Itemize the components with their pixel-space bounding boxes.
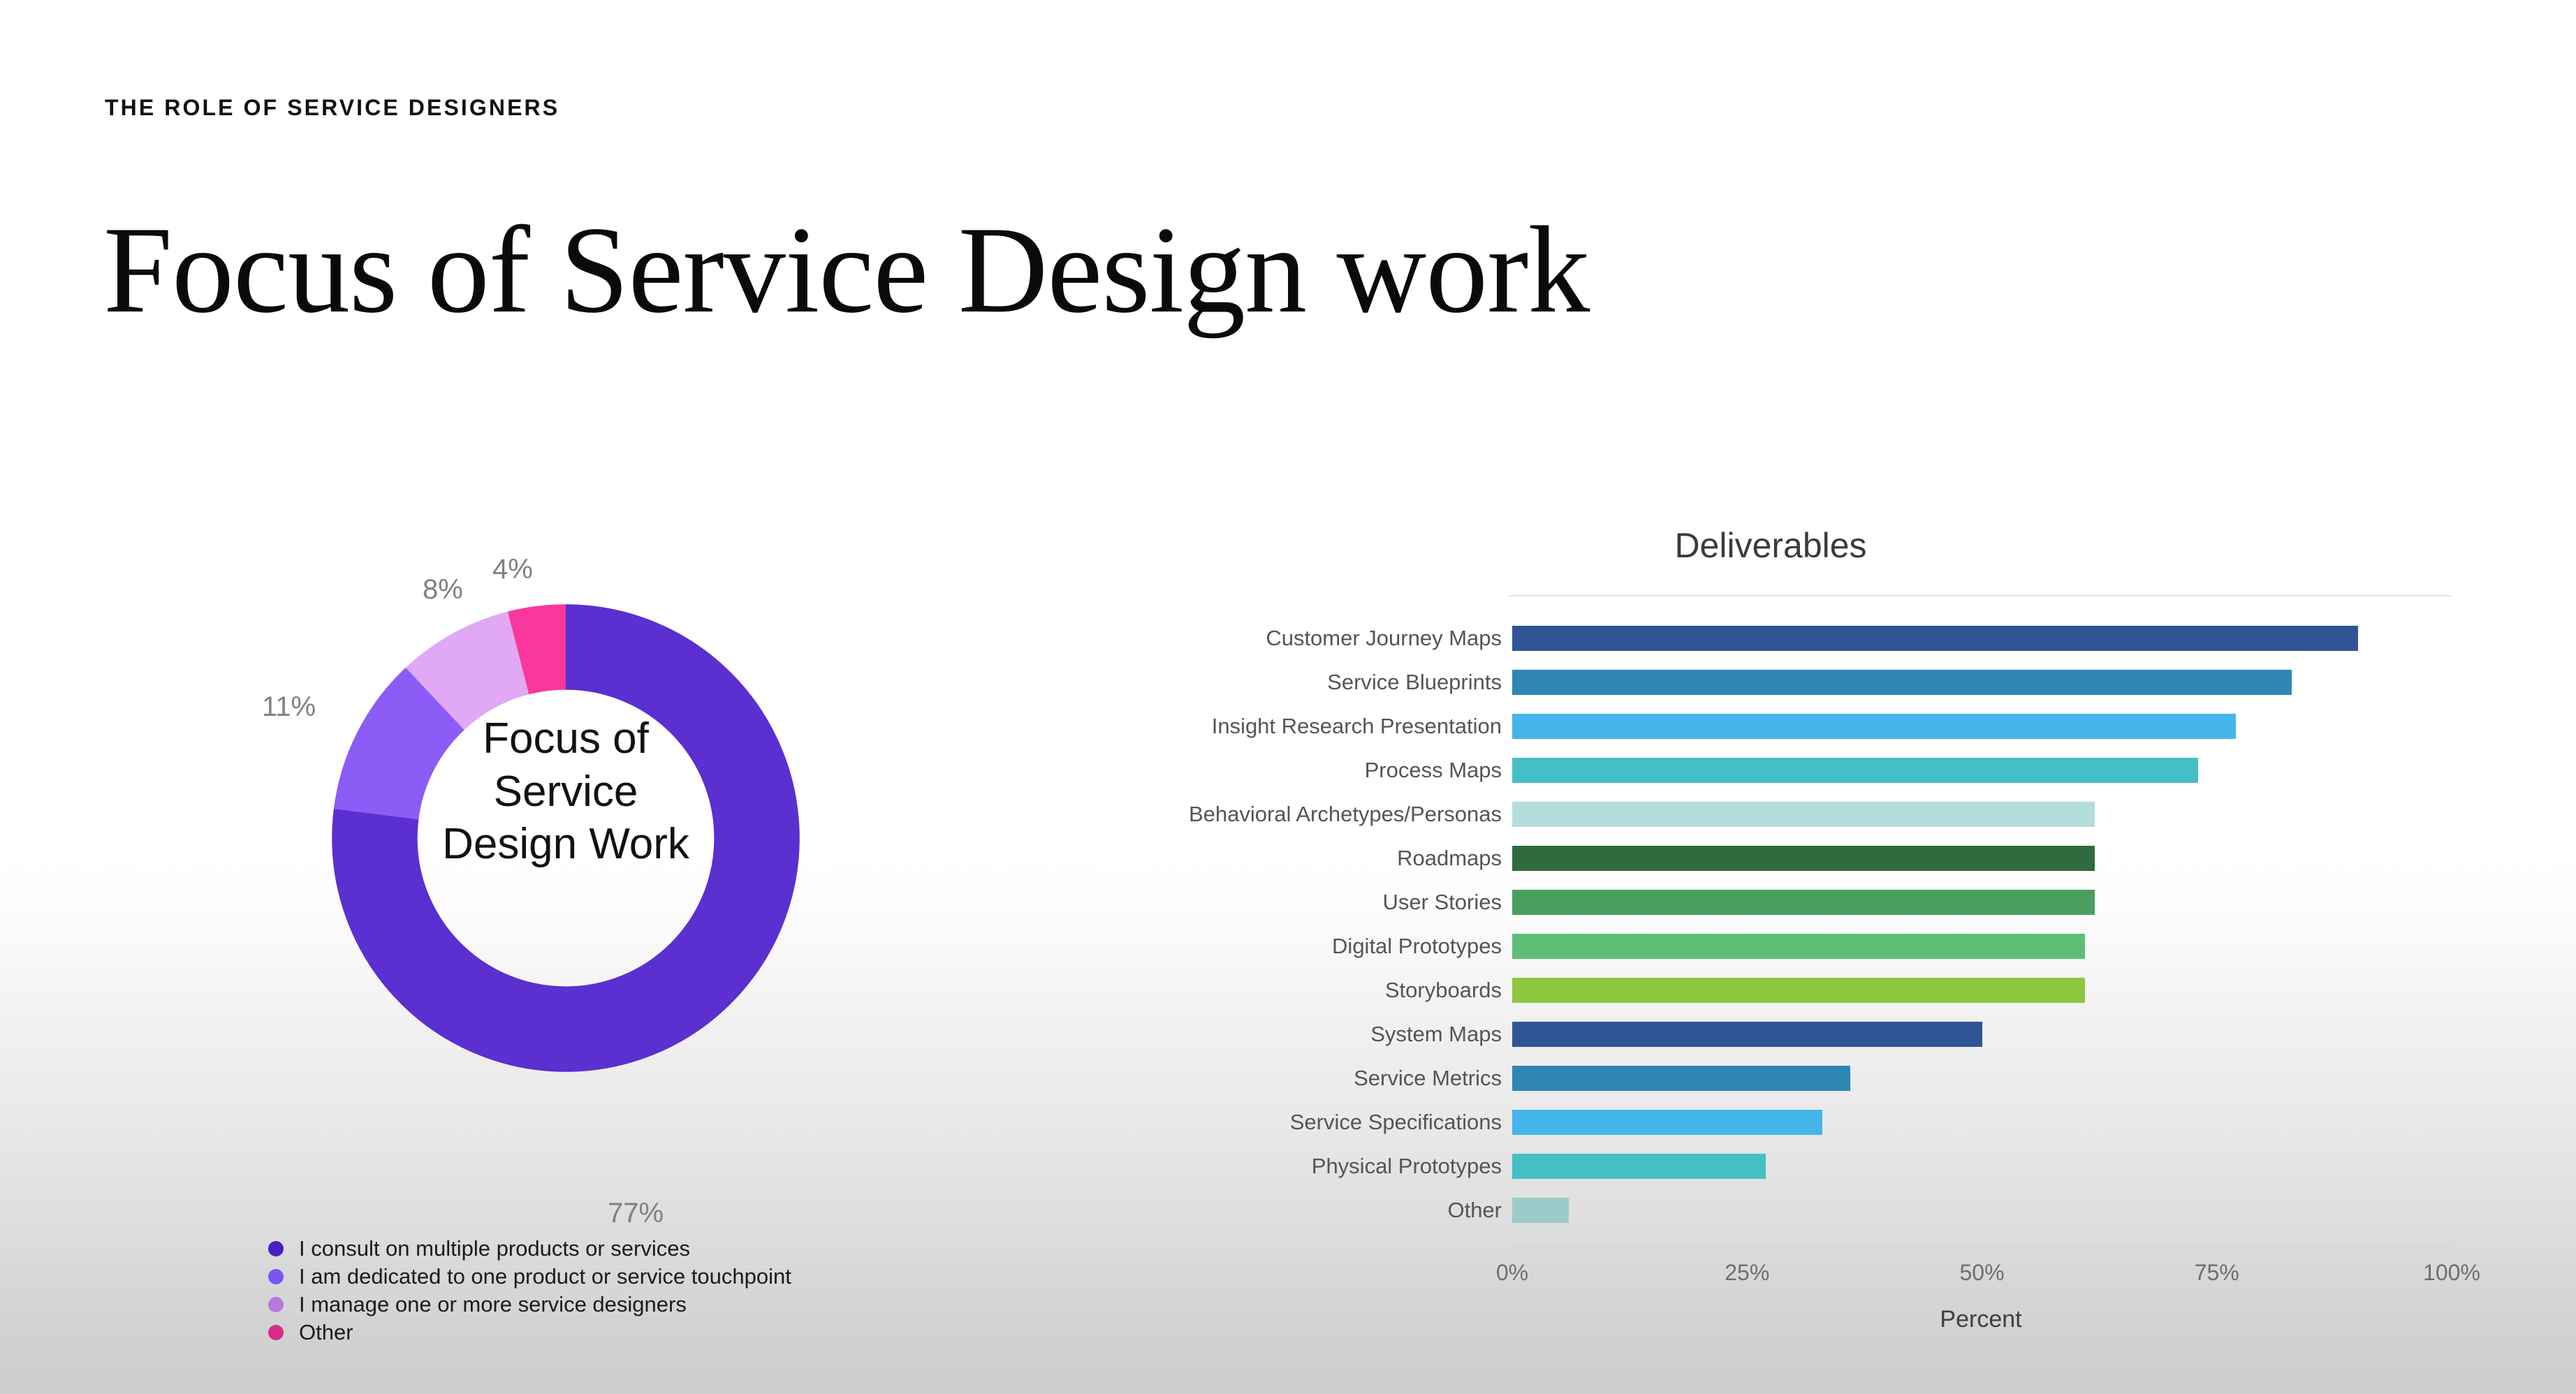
- plot-top-rule: [1509, 595, 2452, 596]
- bar-category-label: Physical Prototypes: [1312, 1154, 1502, 1179]
- x-axis-line: [1509, 1247, 2453, 1249]
- bar-category-label: Roadmaps: [1397, 846, 1502, 871]
- bar-fill: [1512, 846, 2095, 871]
- legend-item-label: I consult on multiple products or servic…: [299, 1236, 690, 1261]
- bar-row: Customer Journey Maps: [1090, 616, 2452, 660]
- legend-color-swatch-icon: [268, 1297, 284, 1312]
- bar-fill: [1512, 758, 2198, 783]
- bar-row: Roadmaps: [1090, 836, 2452, 880]
- bar-fill: [1512, 1154, 1766, 1179]
- bar-fill: [1512, 1022, 1982, 1047]
- bar-category-label: Digital Prototypes: [1332, 934, 1502, 959]
- bar-fill: [1512, 714, 2236, 739]
- legend-item: Other: [268, 1319, 791, 1347]
- bar-rows-container: Customer Journey MapsService BlueprintsI…: [1090, 616, 2452, 1232]
- bar-fill: [1512, 1198, 1569, 1223]
- deliverables-chart-title: Deliverables: [1090, 525, 2452, 566]
- bar-track: [1512, 758, 2452, 783]
- bar-fill: [1512, 670, 2292, 695]
- bar-row: Behavioral Archetypes/Personas: [1090, 792, 2452, 836]
- slide-canvas: THE ROLE OF SERVICE DESIGNERS Focus of S…: [0, 0, 2576, 1394]
- bar-category-label: User Stories: [1382, 890, 1502, 915]
- bar-track: [1512, 802, 2452, 827]
- deliverables-chart-panel: Deliverables Customer Journey MapsServic…: [1090, 510, 2487, 1334]
- bar-row: Service Metrics: [1090, 1056, 2452, 1100]
- bar-category-label: Service Metrics: [1354, 1066, 1502, 1091]
- bar-track: [1512, 978, 2452, 1003]
- bar-track: [1512, 1022, 2452, 1047]
- bar-category-label: Service Specifications: [1290, 1110, 1502, 1135]
- donut-center-line-1: Focus of: [409, 712, 723, 765]
- bar-row: Other: [1090, 1188, 2452, 1232]
- bar-category-label: Insight Research Presentation: [1212, 714, 1502, 739]
- x-axis-label: Percent: [1509, 1306, 2453, 1333]
- donut-center-line-3: Design Work: [409, 818, 723, 871]
- x-axis-tick-label: 25%: [1725, 1260, 1769, 1286]
- legend-color-swatch-icon: [268, 1241, 284, 1256]
- legend-item-label: I am dedicated to one product or service…: [299, 1264, 791, 1289]
- eyebrow-kicker: THE ROLE OF SERVICE DESIGNERS: [105, 95, 559, 121]
- bar-track: [1512, 714, 2452, 739]
- bar-category-label: Process Maps: [1365, 758, 1502, 783]
- bar-row: Storyboards: [1090, 968, 2452, 1012]
- bar-row: System Maps: [1090, 1012, 2452, 1056]
- bar-fill: [1512, 626, 2358, 651]
- bar-track: [1512, 1154, 2452, 1179]
- bar-track: [1512, 890, 2452, 915]
- x-axis-tick-label: 0%: [1496, 1260, 1528, 1286]
- bar-track: [1512, 1198, 2452, 1223]
- bar-row: Insight Research Presentation: [1090, 704, 2452, 748]
- legend-item-label: I manage one or more service designers: [299, 1292, 687, 1317]
- bar-track: [1512, 1110, 2452, 1135]
- page-title: Focus of Service Design work: [103, 203, 1589, 337]
- bar-row: Process Maps: [1090, 748, 2452, 792]
- bar-fill: [1512, 934, 2085, 959]
- bar-category-label: Service Blueprints: [1327, 670, 1502, 695]
- donut-value-label-other: 4%: [492, 554, 533, 585]
- bar-fill: [1512, 1066, 1850, 1091]
- legend-item: I am dedicated to one product or service…: [268, 1263, 791, 1291]
- bar-category-label: Other: [1447, 1198, 1502, 1223]
- donut-center-line-2: Service: [409, 765, 723, 819]
- bar-track: [1512, 626, 2452, 651]
- bar-category-label: System Maps: [1370, 1022, 1502, 1047]
- bar-category-label: Storyboards: [1385, 978, 1502, 1003]
- legend-color-swatch-icon: [268, 1269, 284, 1284]
- donut-value-label-manage: 8%: [423, 574, 463, 606]
- bar-row: Digital Prototypes: [1090, 924, 2452, 968]
- legend-color-swatch-icon: [268, 1325, 284, 1340]
- legend-item-label: Other: [299, 1320, 353, 1345]
- bar-fill: [1512, 890, 2095, 915]
- donut-value-label-dedicated: 11%: [262, 691, 316, 723]
- bar-row: Service Specifications: [1090, 1100, 2452, 1144]
- donut-legend: I consult on multiple products or servic…: [268, 1235, 791, 1347]
- bar-track: [1512, 670, 2452, 695]
- x-axis-tick-label: 50%: [1959, 1260, 2004, 1286]
- legend-item: I consult on multiple products or servic…: [268, 1235, 791, 1263]
- bar-fill: [1512, 1110, 1822, 1135]
- donut-center-label: Focus of Service Design Work: [409, 712, 723, 871]
- bar-row: User Stories: [1090, 880, 2452, 924]
- bar-category-label: Behavioral Archetypes/Personas: [1189, 802, 1502, 827]
- x-axis-tick-label: 100%: [2423, 1260, 2480, 1286]
- bar-row: Physical Prototypes: [1090, 1144, 2452, 1188]
- legend-item: I manage one or more service designers: [268, 1291, 791, 1319]
- donut-value-label-consult: 77%: [608, 1198, 664, 1229]
- bar-track: [1512, 846, 2452, 871]
- bar-track: [1512, 934, 2452, 959]
- bar-track: [1512, 1066, 2452, 1091]
- bar-row: Service Blueprints: [1090, 660, 2452, 704]
- bar-fill: [1512, 978, 2085, 1003]
- x-axis-tick-label: 75%: [2195, 1260, 2239, 1286]
- bar-category-label: Customer Journey Maps: [1266, 626, 1502, 651]
- donut-chart-panel: Focus of Service Design Work 4% 8% 11% 7…: [230, 489, 859, 1187]
- bar-fill: [1512, 802, 2095, 827]
